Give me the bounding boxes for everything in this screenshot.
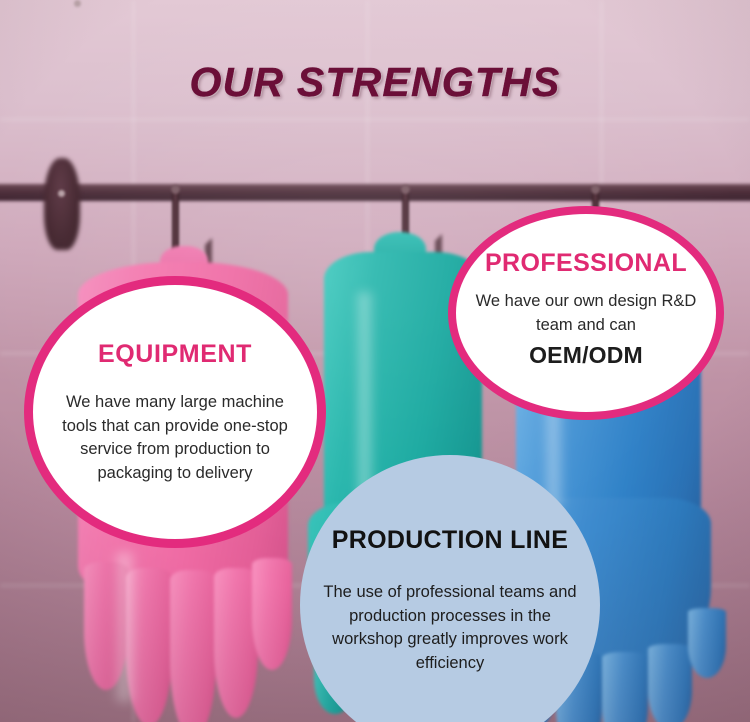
page-title: OUR STRENGTHS [0, 62, 750, 103]
strength-card-professional[interactable]: PROFESSIONAL We have our own design R&D … [448, 206, 724, 420]
strength-card-equipment[interactable]: EQUIPMENT We have many large machine too… [24, 276, 326, 548]
strength-title-equipment: EQUIPMENT [98, 341, 252, 367]
strength-title-professional: PROFESSIONAL [485, 250, 687, 276]
strength-emphasis-oem-odm: OEM/ODM [470, 339, 702, 372]
strength-body-production-line: The use of professional teams and produc… [314, 581, 586, 675]
strength-title-production-line: PRODUCTION LINE [332, 527, 568, 553]
strength-body-text-professional: We have our own design R&D team and can [476, 292, 697, 333]
our-strengths-banner: OUR STRENGTHS EQUIPMENT We have many lar… [0, 0, 750, 722]
strength-body-professional: We have our own design R&D team and can … [470, 290, 702, 372]
strength-body-equipment: We have many large machine tools that ca… [59, 391, 291, 485]
